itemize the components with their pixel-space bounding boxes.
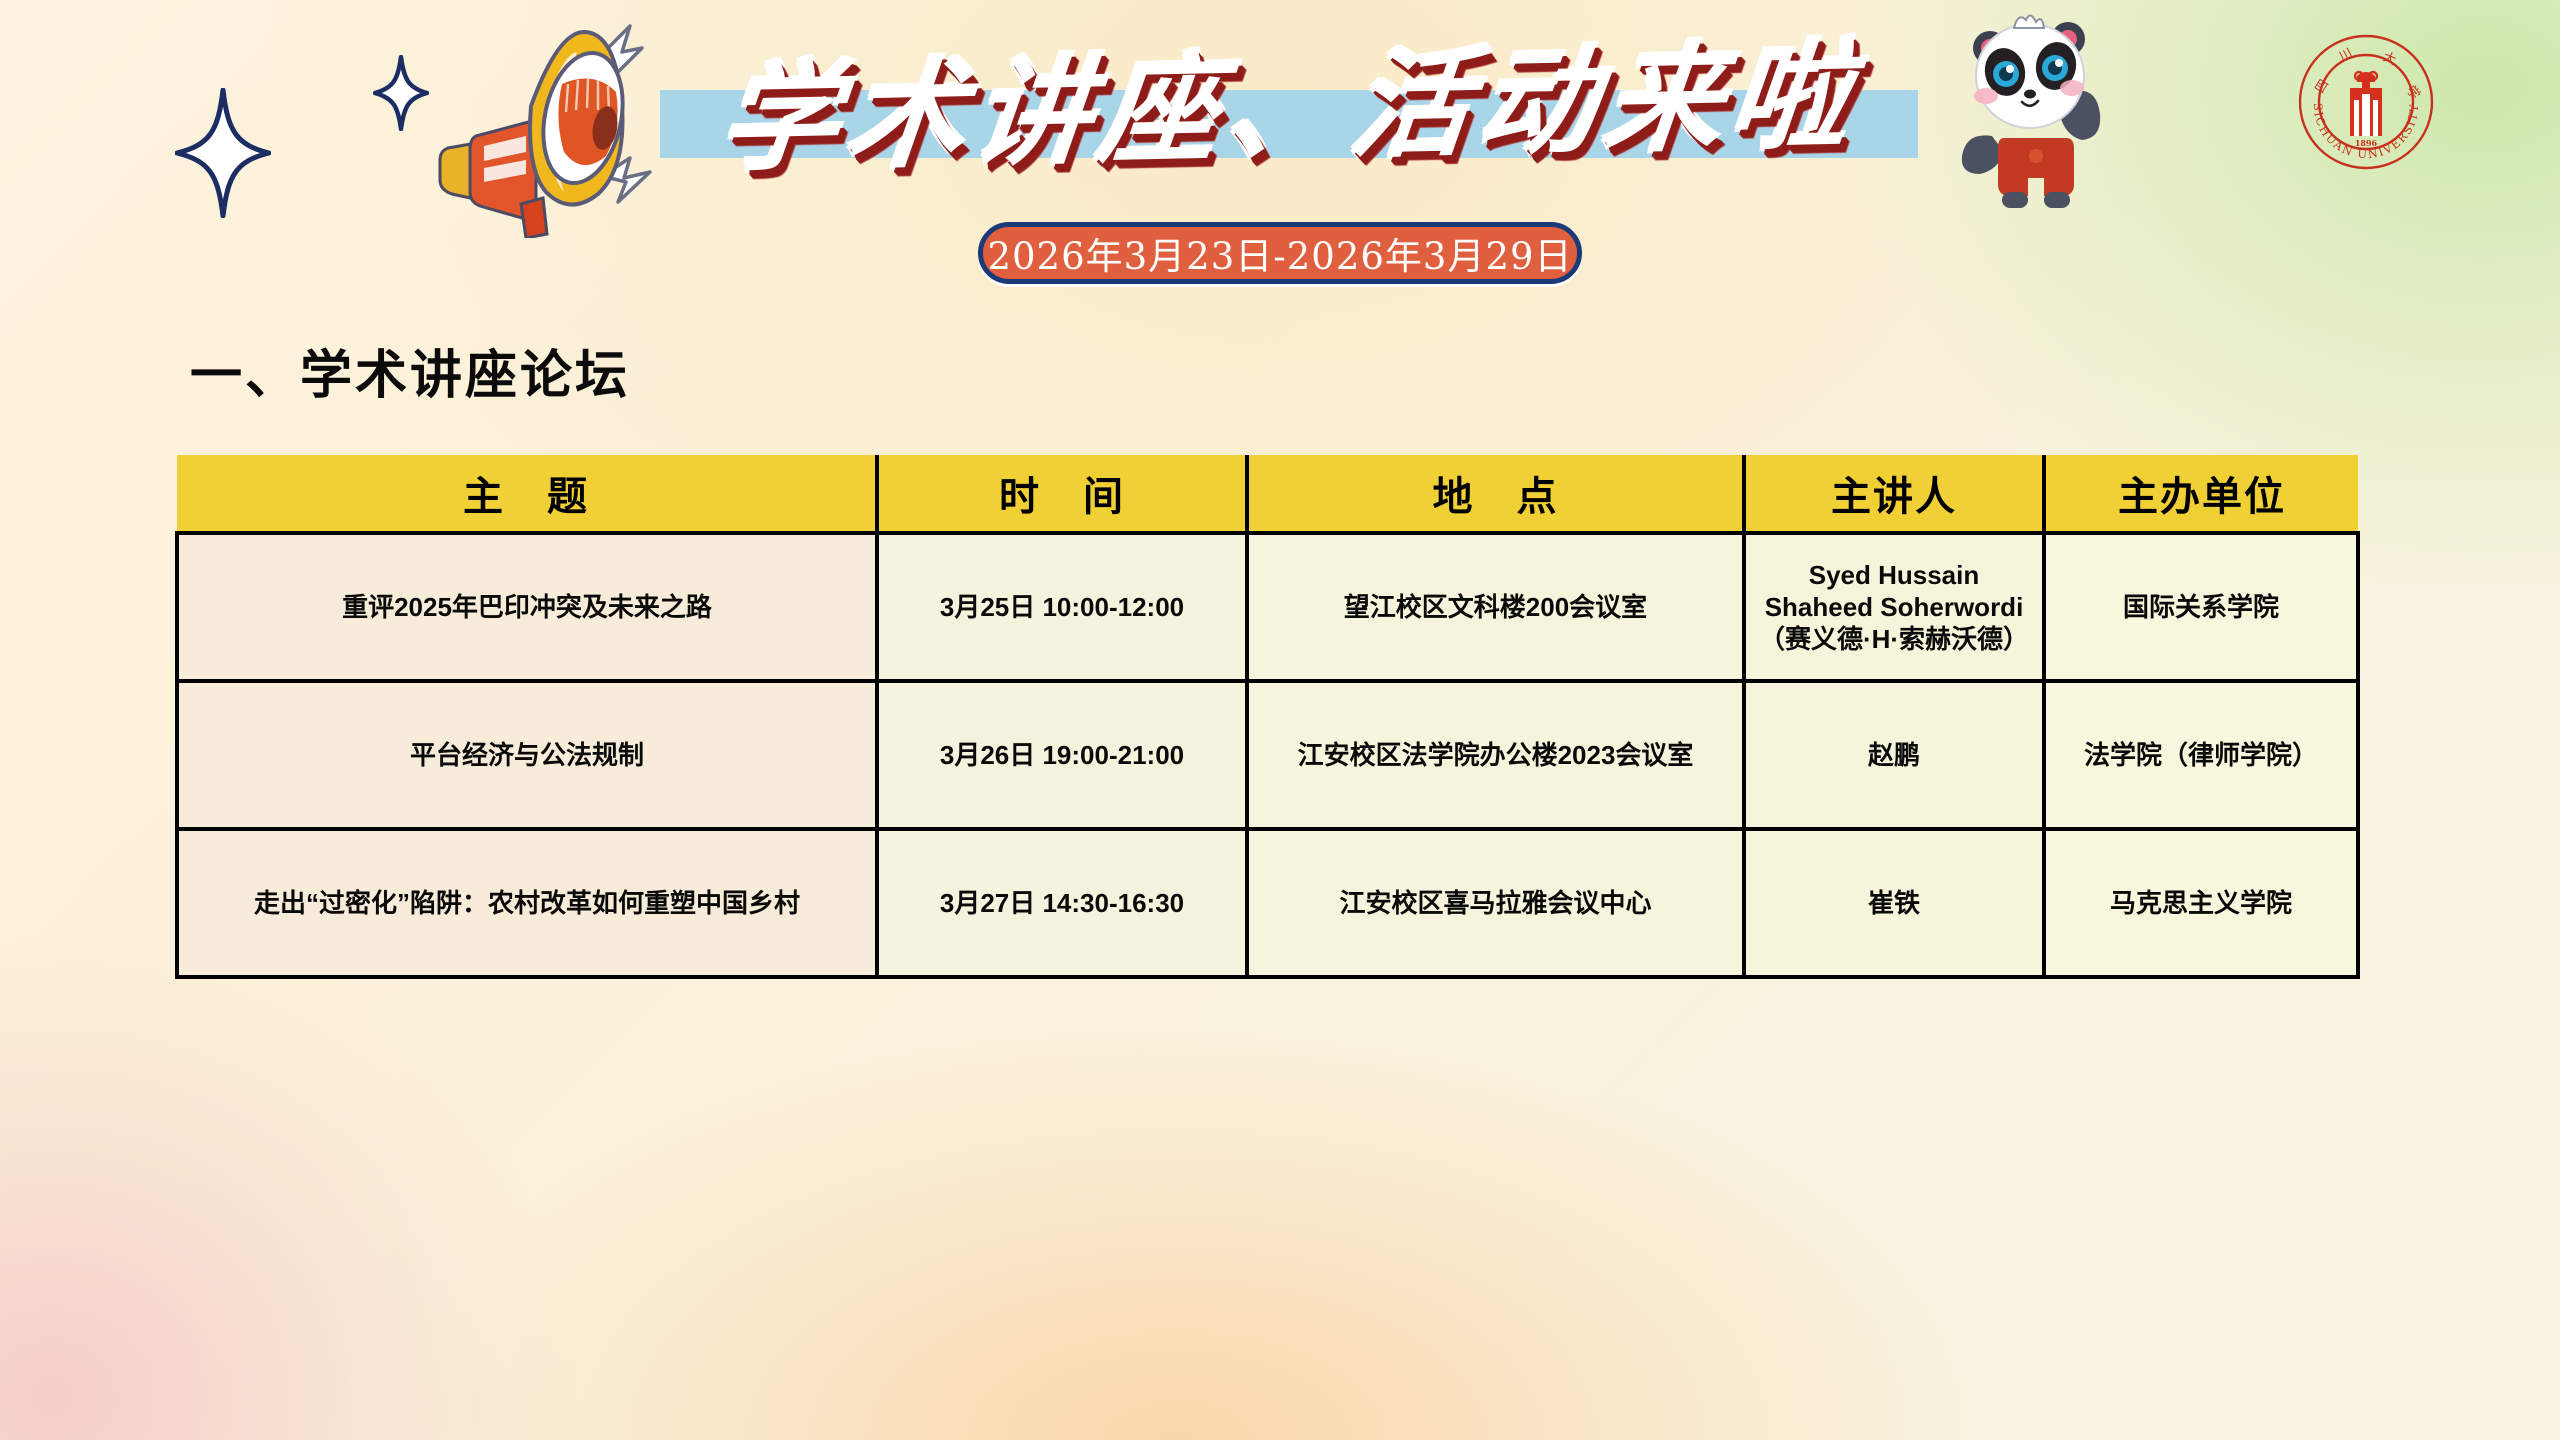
column-header-venue: 地 点 (1247, 455, 1744, 533)
lecture-schedule-table: 主 题 时 间 地 点 主讲人 主办单位 重评2025年巴印冲突及未来之路 3月… (175, 455, 2360, 979)
cell-speaker: 崔铁 (1744, 829, 2044, 977)
sparkle-large-icon (175, 88, 271, 218)
cell-topic: 走出“过密化”陷阱：农村改革如何重塑中国乡村 (177, 829, 877, 977)
column-header-speaker: 主讲人 (1744, 455, 2044, 533)
date-range-badge: 2026年3月23日-2026年3月29日 (978, 222, 1582, 284)
cell-venue: 江安校区喜马拉雅会议中心 (1247, 829, 1744, 977)
date-range-text: 2026年3月23日-2026年3月29日 (987, 226, 1572, 280)
table-row: 走出“过密化”陷阱：农村改革如何重塑中国乡村 3月27日 14:30-16:30… (177, 829, 2358, 977)
svg-text:川: 川 (2337, 46, 2356, 65)
svg-text:1896: 1896 (2355, 138, 2378, 148)
cell-topic: 重评2025年巴印冲突及未来之路 (177, 533, 877, 681)
cell-time: 3月26日 19:00-21:00 (877, 681, 1247, 829)
cell-venue: 江安校区法学院办公楼2023会议室 (1247, 681, 1744, 829)
section-heading: 一、学术讲座论坛 (190, 333, 630, 408)
svg-text:大: 大 (2381, 50, 2399, 69)
cell-speaker: Syed Hussain Shaheed Soherwordi（赛义德·H·索赫… (1744, 533, 2044, 681)
table-header-row: 主 题 时 间 地 点 主讲人 主办单位 (177, 455, 2358, 533)
cell-host: 国际关系学院 (2044, 533, 2358, 681)
svg-text:四: 四 (2313, 77, 2333, 96)
column-header-host: 主办单位 (2044, 455, 2358, 533)
cell-speaker: 赵鹏 (1744, 681, 2044, 829)
table-row: 重评2025年巴印冲突及未来之路 3月25日 10:00-12:00 望江校区文… (177, 533, 2358, 681)
column-header-topic: 主 题 (177, 455, 877, 533)
cell-time: 3月27日 14:30-16:30 (877, 829, 1247, 977)
svg-text:学: 学 (2403, 83, 2424, 103)
megaphone-icon (330, 8, 680, 238)
panda-mascot-icon (1948, 6, 2118, 216)
table-row: 平台经济与公法规制 3月26日 19:00-21:00 江安校区法学院办公楼20… (177, 681, 2358, 829)
sichuan-university-logo: 1896 SICHUAN UNIVERSITY 四 川 大 学 (2296, 32, 2436, 172)
page-title: 学术讲座、活动来啦 (630, 2, 1949, 189)
cell-host: 法学院（律师学院） (2044, 681, 2358, 829)
sparkle-small-icon (373, 55, 429, 131)
column-header-time: 时 间 (877, 455, 1247, 533)
cell-topic: 平台经济与公法规制 (177, 681, 877, 829)
svg-text:SICHUAN UNIVERSITY: SICHUAN UNIVERSITY (2311, 103, 2421, 162)
cell-host: 马克思主义学院 (2044, 829, 2358, 977)
cell-time: 3月25日 10:00-12:00 (877, 533, 1247, 681)
cell-venue: 望江校区文科楼200会议室 (1247, 533, 1744, 681)
